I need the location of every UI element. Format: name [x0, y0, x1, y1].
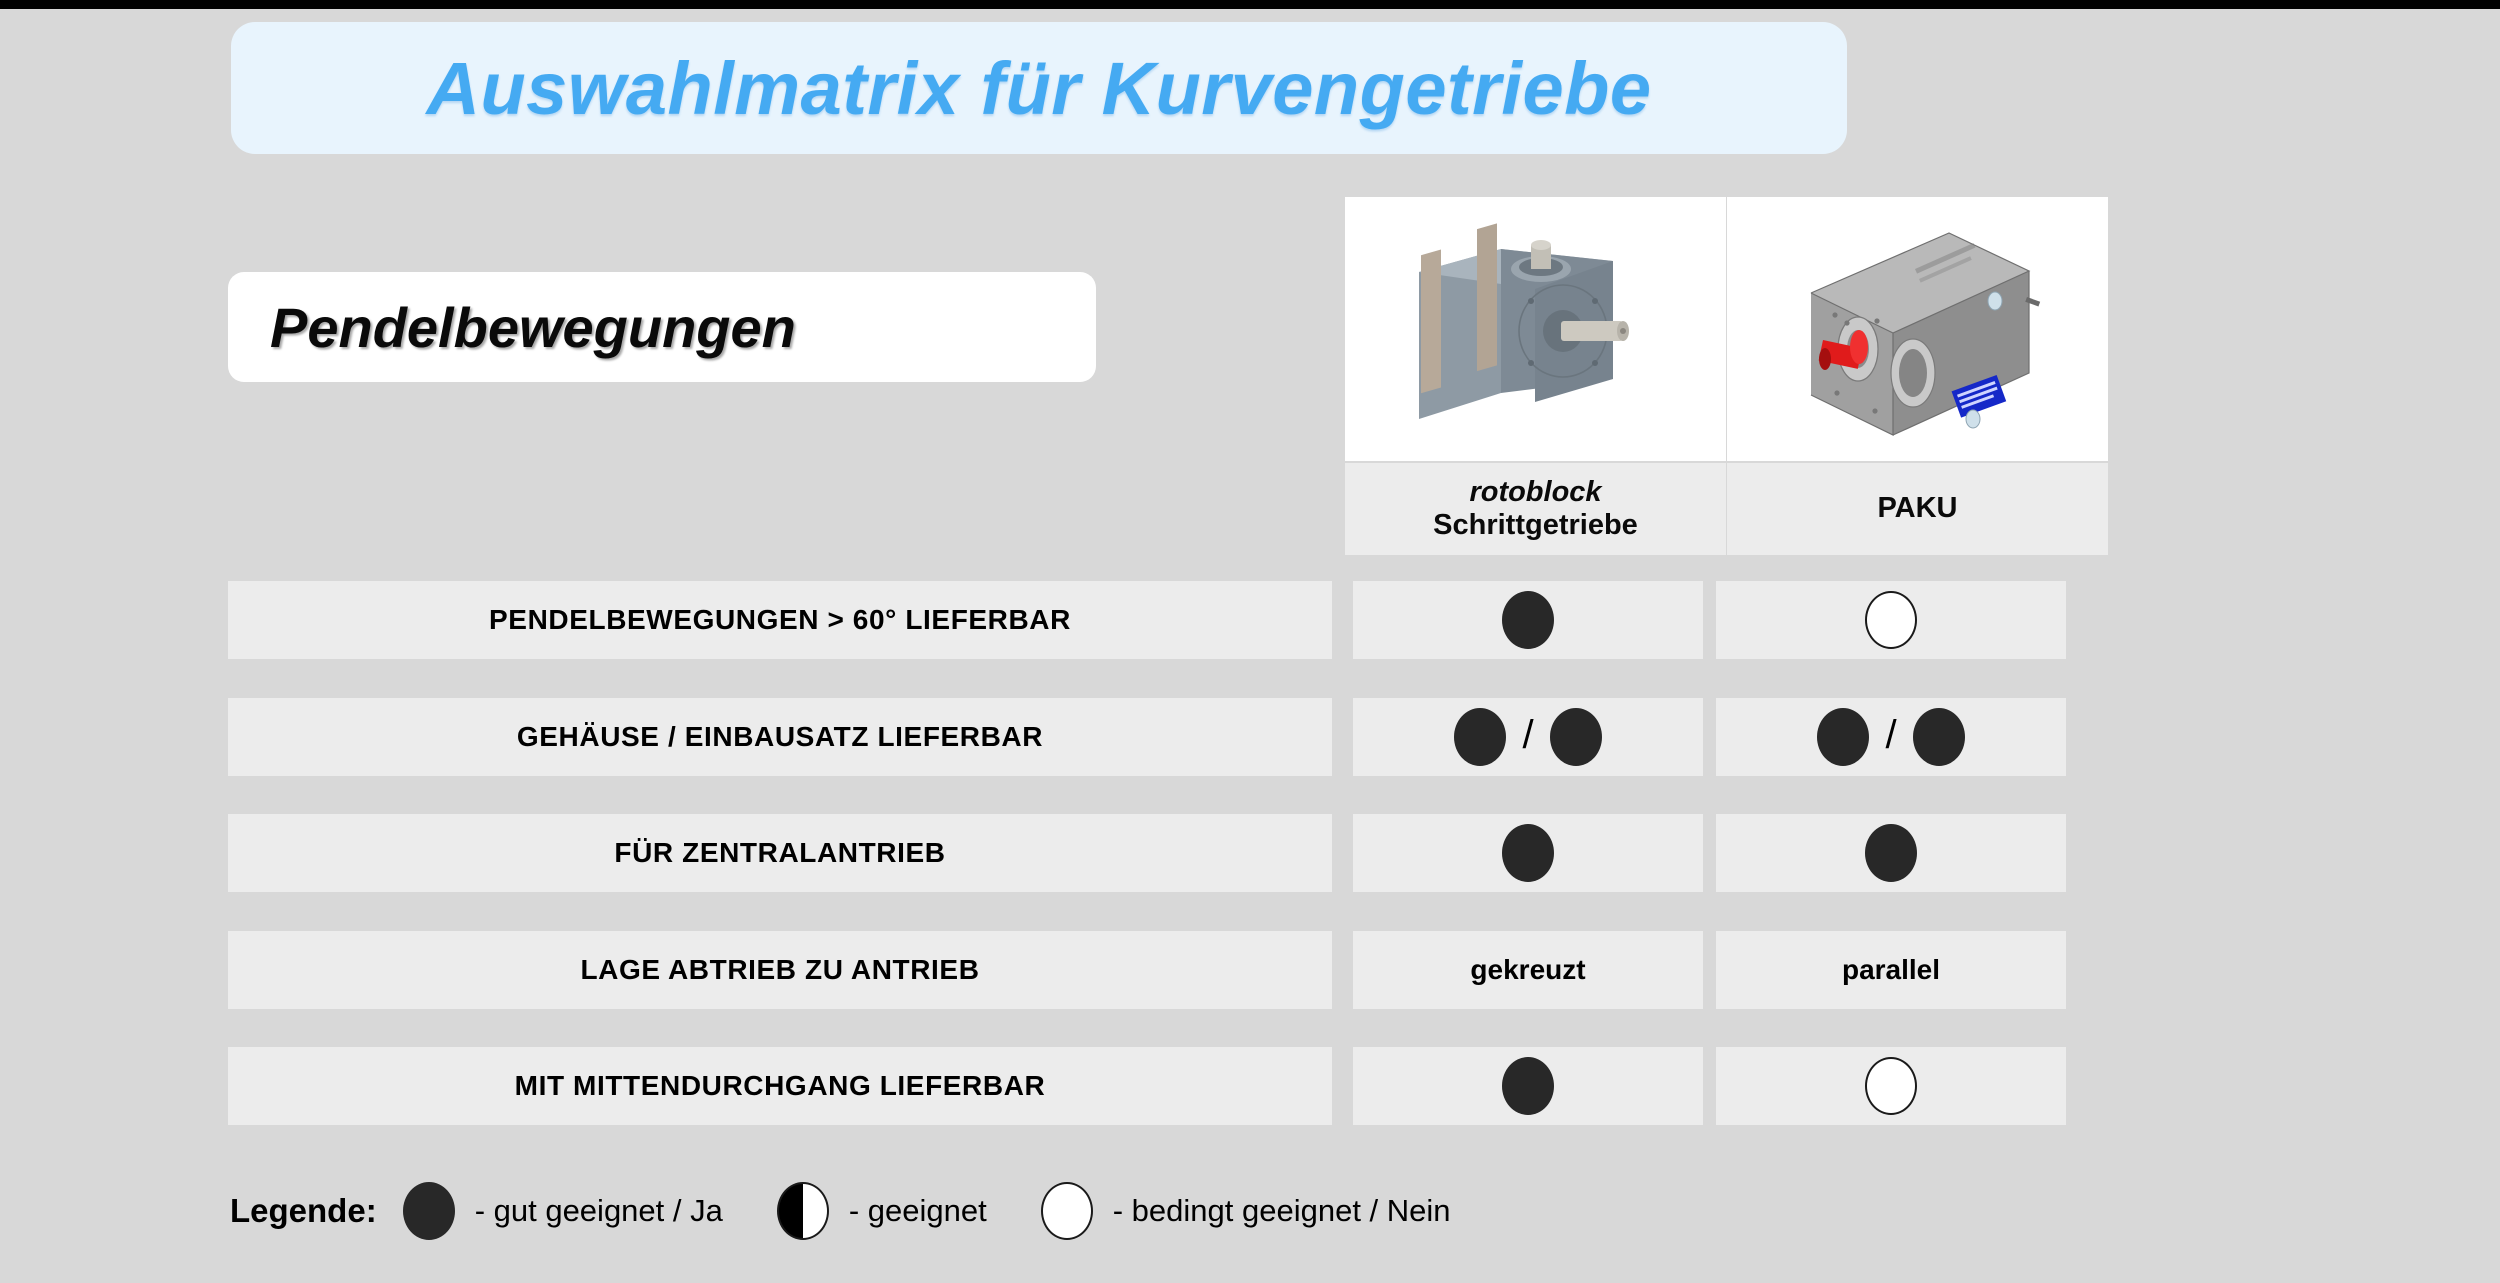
- page-title-box: Auswahlmatrix für Kurvengetriebe: [231, 22, 1847, 154]
- section-heading-box: Pendelbewegungen: [228, 272, 1096, 382]
- column-header-name-line-2: Schrittgetriebe: [1433, 509, 1638, 542]
- matrix-row-label: MIT MITTENDURCHGANG LIEFERBAR: [228, 1047, 1332, 1125]
- product-image-cell-paku: [1727, 197, 2108, 461]
- filled-circle-icon: [1502, 1057, 1554, 1115]
- matrix-value-text: parallel: [1842, 954, 1940, 986]
- legend-item-label: - gut geeignet / Ja: [475, 1193, 723, 1229]
- selection-matrix-page: Auswahlmatrix für Kurvengetriebe Pendelb…: [0, 0, 2500, 1283]
- legend-item-label: - geeignet: [849, 1193, 987, 1229]
- matrix-value-cell: gekreuzt: [1353, 931, 1703, 1009]
- filled-circle-icon: [1502, 824, 1554, 882]
- matrix-row-label-text: PENDELBEWEGUNGEN > 60° LIEFERBAR: [489, 604, 1071, 636]
- matrix-value-cell: [1716, 814, 2066, 892]
- column-header-name-line-1: PAKU: [1877, 492, 1957, 525]
- empty-circle-icon: [1041, 1182, 1093, 1240]
- filled-circle-icon: [1913, 708, 1965, 766]
- matrix-value-cell: [1353, 814, 1703, 892]
- matrix-row-label: PENDELBEWEGUNGEN > 60° LIEFERBAR: [228, 581, 1332, 659]
- slash-separator: /: [1885, 715, 1896, 755]
- legend-item: - geeignet: [777, 1182, 987, 1240]
- filled-circle-icon: [1454, 708, 1506, 766]
- empty-circle-icon: [1865, 1057, 1917, 1115]
- filled-circle-icon: [1550, 708, 1602, 766]
- legend-item: - gut geeignet / Ja: [403, 1182, 723, 1240]
- rotoblock-gearbox-photo: [1345, 197, 1726, 461]
- section-heading: Pendelbewegungen: [270, 295, 796, 360]
- slash-separator: /: [1522, 715, 1533, 755]
- matrix-value-cell: [1353, 1047, 1703, 1125]
- product-image-cell-rotoblock: [1345, 197, 1726, 461]
- matrix-value-cell: [1353, 581, 1703, 659]
- matrix-row-label-text: MIT MITTENDURCHGANG LIEFERBAR: [515, 1070, 1046, 1102]
- page-title: Auswahlmatrix für Kurvengetriebe: [427, 46, 1652, 131]
- legend-title: Legende:: [230, 1192, 377, 1230]
- matrix-row-label-text: LAGE ABTRIEB ZU ANTRIEB: [580, 954, 979, 986]
- paku-gearbox-render: [1727, 197, 2108, 461]
- column-header-name-line-1: rotoblock: [1469, 476, 1601, 509]
- half-circle-icon: [777, 1182, 829, 1240]
- legend-item-label: - bedingt geeignet / Nein: [1113, 1193, 1451, 1229]
- legend: Legende: - gut geeignet / Ja- geeignet- …: [230, 1175, 1505, 1247]
- matrix-row-label: FÜR ZENTRALANTRIEB: [228, 814, 1332, 892]
- matrix-value-cell: [1716, 1047, 2066, 1125]
- legend-item: - bedingt geeignet / Nein: [1041, 1182, 1451, 1240]
- column-header-rotoblock: rotoblock Schrittgetriebe: [1345, 463, 1726, 555]
- filled-circle-icon: [403, 1182, 455, 1240]
- filled-circle-icon: [1817, 708, 1869, 766]
- matrix-value-cell: [1716, 581, 2066, 659]
- matrix-row-label-text: GEHÄUSE / EINBAUSATZ LIEFERBAR: [517, 721, 1043, 753]
- empty-circle-icon: [1865, 591, 1917, 649]
- matrix-value-cell: /: [1353, 698, 1703, 776]
- column-header-paku: PAKU: [1727, 463, 2108, 555]
- matrix-value-cell: /: [1716, 698, 2066, 776]
- matrix-value-text: gekreuzt: [1470, 954, 1585, 986]
- matrix-row-label: GEHÄUSE / EINBAUSATZ LIEFERBAR: [228, 698, 1332, 776]
- filled-circle-icon: [1865, 824, 1917, 882]
- top-black-strip: [0, 0, 2500, 9]
- matrix-value-cell: parallel: [1716, 931, 2066, 1009]
- matrix-row-label: LAGE ABTRIEB ZU ANTRIEB: [228, 931, 1332, 1009]
- filled-circle-icon: [1502, 591, 1554, 649]
- matrix-row-label-text: FÜR ZENTRALANTRIEB: [614, 837, 945, 869]
- legend-items: - gut geeignet / Ja- geeignet- bedingt g…: [403, 1182, 1505, 1240]
